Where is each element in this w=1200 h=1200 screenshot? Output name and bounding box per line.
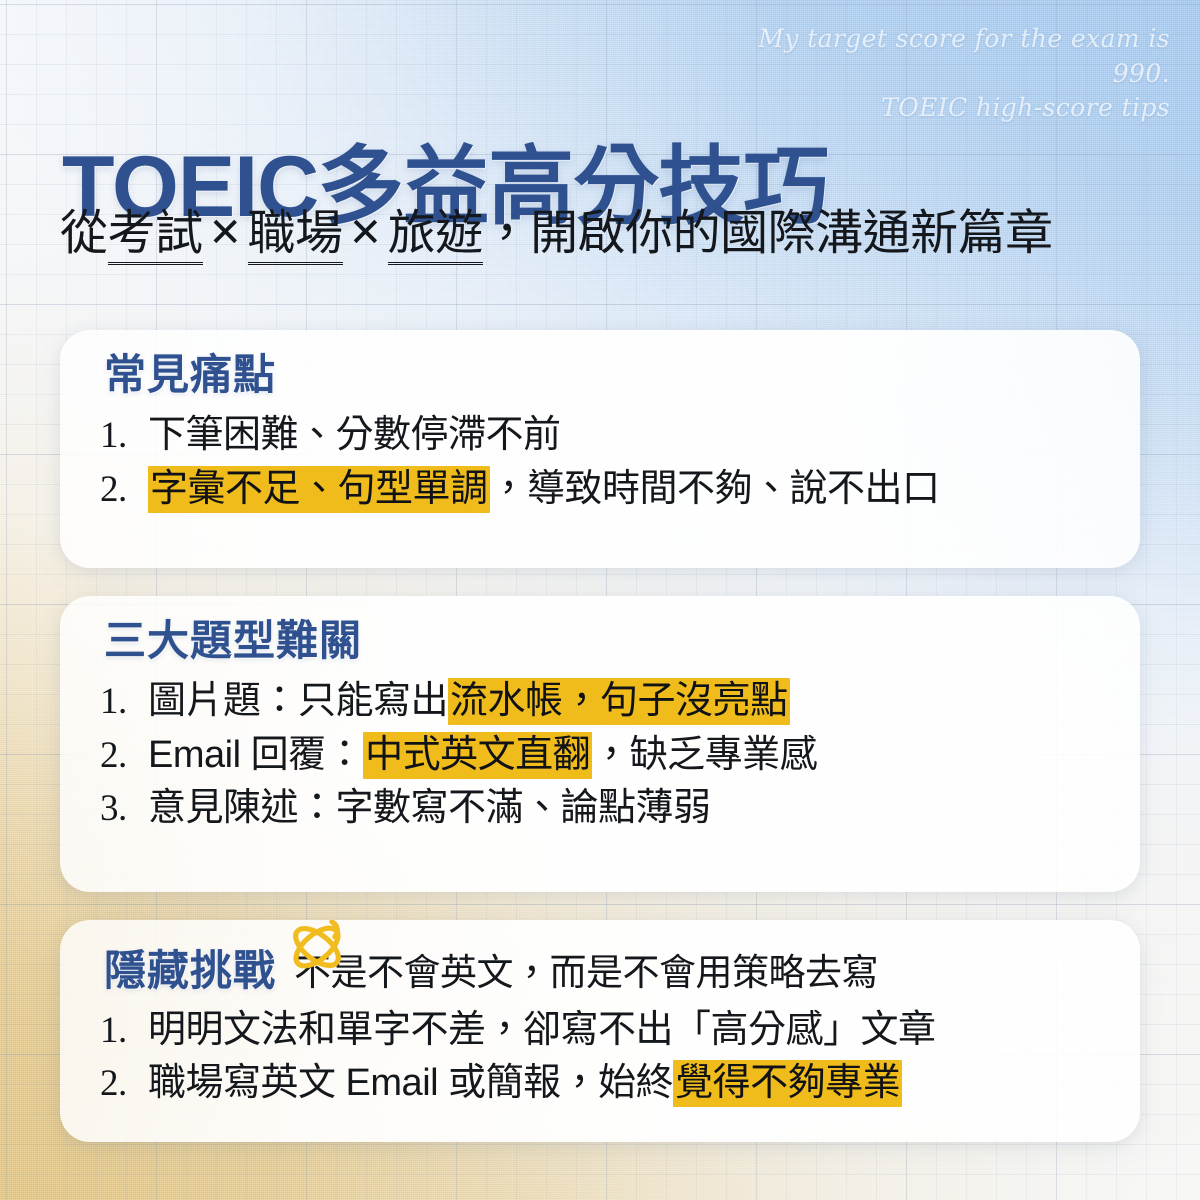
list-item: 1.圖片題：只能寫出流水帳，句子沒亮點 — [100, 677, 1100, 726]
highlighted-phrase: 流水帳，句子沒亮點 — [448, 678, 790, 725]
list-item-number: 1. — [100, 678, 148, 726]
list-item-number: 1. — [100, 412, 148, 460]
plain-phrase: ，導致時間不夠、說不出口 — [490, 468, 940, 510]
subtitle-tag-workplace: 職場 — [248, 207, 343, 265]
list-item: 2.Email 回覆：中式英文直翻，缺乏專業感 — [100, 731, 1100, 780]
list-item: 1.下筆困難、分數停滯不前 — [100, 411, 1100, 460]
subtitle-suffix: ，開啟你的國際溝通新篇章 — [483, 207, 1053, 260]
list-item-number: 3. — [100, 785, 148, 833]
plain-phrase: 下筆困難、分數停滯不前 — [148, 414, 561, 456]
plain-phrase: 明明文法和單字不差，卻寫不出「高分感」文章 — [148, 1009, 936, 1051]
card-heading-note: 不是不會英文，而是不會用策略去寫 — [294, 942, 878, 996]
poster-canvas: My target score for the exam is 990. TOE… — [0, 0, 1200, 1200]
watermark-line-2: TOEIC high-score tips — [740, 91, 1170, 126]
highlighted-phrase: 覺得不夠專業 — [673, 1060, 902, 1107]
list-item-text: 明明文法和單字不差，卻寫不出「高分感」文章 — [148, 1006, 1100, 1055]
subtitle-tag-travel: 旅遊 — [388, 207, 483, 265]
watermark: My target score for the exam is 990. TOE… — [740, 22, 1170, 126]
list-item: 1.明明文法和單字不差，卻寫不出「高分感」文章 — [100, 1006, 1100, 1055]
list-item-text: 下筆困難、分數停滯不前 — [148, 411, 1100, 460]
list-item-text: Email 回覆：中式英文直翻，缺乏專業感 — [148, 731, 1100, 780]
list-item-number: 2. — [100, 732, 148, 780]
card-item-list: 1.下筆困難、分數停滯不前2.字彙不足、句型單調，導致時間不夠、說不出口 — [100, 411, 1100, 514]
card-item-list: 1.圖片題：只能寫出流水帳，句子沒亮點2.Email 回覆：中式英文直翻，缺乏專… — [100, 677, 1100, 833]
plain-phrase: Email 回覆： — [148, 734, 363, 776]
list-item-text: 職場寫英文 Email 或簡報，始終覺得不夠專業 — [148, 1059, 1100, 1108]
card-item-list: 1.明明文法和單字不差，卻寫不出「高分感」文章2.職場寫英文 Email 或簡報… — [100, 1006, 1100, 1109]
card-three-question-types: 三大題型難關 1.圖片題：只能寫出流水帳，句子沒亮點2.Email 回覆：中式英… — [60, 596, 1140, 892]
card-heading: 隱藏挑戰 — [104, 948, 276, 993]
watermark-line-1: My target score for the exam is 990. — [758, 24, 1170, 88]
card-hidden-challenge: 隱藏挑戰 不是不會英文，而是不會用策略去寫 1.明明文法和單字不差，卻寫不出「高… — [60, 920, 1140, 1142]
list-item-text: 圖片題：只能寫出流水帳，句子沒亮點 — [148, 677, 1100, 726]
plain-phrase: ，缺乏專業感 — [592, 734, 817, 776]
plain-phrase: 職場寫英文 Email 或簡報，始終 — [148, 1062, 673, 1104]
card-heading: 常見痛點 — [104, 352, 1100, 397]
page-subtitle: 從考試✕職場✕旅遊，開啟你的國際溝通新篇章 — [60, 205, 1053, 264]
subtitle-tag-exam: 考試 — [108, 207, 203, 265]
list-item: 2.字彙不足、句型單調，導致時間不夠、說不出口 — [100, 465, 1100, 514]
list-item-number: 1. — [100, 1007, 148, 1055]
card-heading-row: 隱藏挑戰 不是不會英文，而是不會用策略去寫 — [104, 942, 1100, 996]
subtitle-separator-2: ✕ — [343, 209, 388, 258]
poster-content: My target score for the exam is 990. TOE… — [0, 0, 1200, 1200]
highlighted-phrase: 中式英文直翻 — [363, 732, 592, 779]
list-item-number: 2. — [100, 466, 148, 514]
list-item-text: 字彙不足、句型單調，導致時間不夠、說不出口 — [148, 465, 1100, 514]
subtitle-prefix: 從 — [60, 207, 108, 260]
list-item-text: 意見陳述：字數寫不滿、論點薄弱 — [148, 784, 1100, 833]
plain-phrase: 圖片題：只能寫出 — [148, 680, 448, 722]
subtitle-separator-1: ✕ — [203, 209, 248, 258]
list-item-number: 2. — [100, 1060, 148, 1108]
plain-phrase: 意見陳述：字數寫不滿、論點薄弱 — [148, 787, 711, 829]
list-item: 3.意見陳述：字數寫不滿、論點薄弱 — [100, 784, 1100, 833]
highlighted-phrase: 字彙不足、句型單調 — [148, 466, 490, 513]
card-heading: 三大題型難關 — [104, 618, 1100, 663]
card-common-pain-points: 常見痛點 1.下筆困難、分數停滯不前2.字彙不足、句型單調，導致時間不夠、說不出… — [60, 330, 1140, 568]
list-item: 2.職場寫英文 Email 或簡報，始終覺得不夠專業 — [100, 1059, 1100, 1108]
